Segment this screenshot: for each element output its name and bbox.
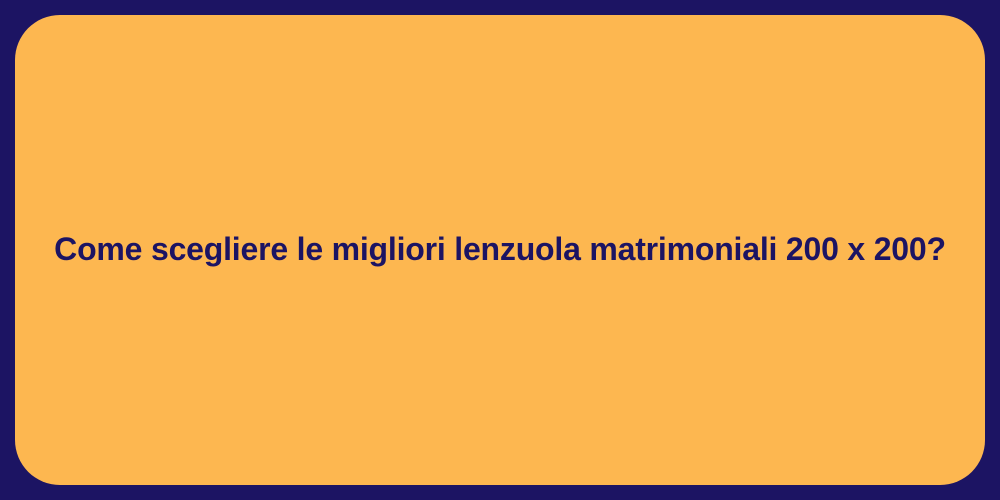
page-title: Come scegliere le migliori lenzuola matr… <box>54 229 946 271</box>
banner-panel: Come scegliere le migliori lenzuola matr… <box>15 15 985 485</box>
banner-frame: Come scegliere le migliori lenzuola matr… <box>0 0 1000 500</box>
